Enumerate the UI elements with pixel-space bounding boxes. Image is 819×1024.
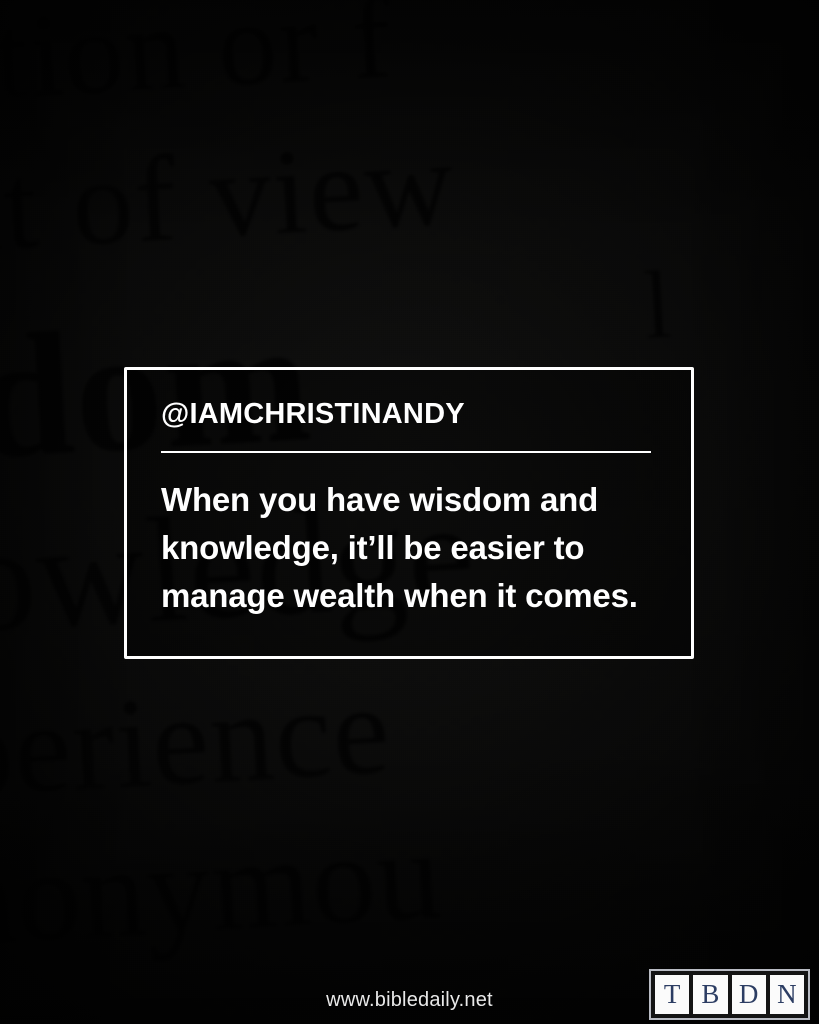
logo-tile-n: N xyxy=(770,975,804,1014)
background-word-revelation: elation or f xyxy=(0,0,396,126)
author-handle: @IAMCHRISTINANDY xyxy=(161,400,657,429)
background-word-fragment: l xyxy=(642,256,674,353)
logo-tile-b: B xyxy=(693,975,727,1014)
quote-graphic: elation or f oint of view isdom nowledge… xyxy=(0,0,819,1024)
card-divider xyxy=(161,451,651,453)
footer: www.bibledaily.net T B D N xyxy=(0,962,819,1024)
background-word-experience: xperience xyxy=(0,665,394,821)
background-word-point-of-view: oint of view xyxy=(0,122,458,278)
background-word-synonymous: ynonymou xyxy=(0,810,445,969)
quote-card: @IAMCHRISTINANDY When you have wisdom an… xyxy=(124,367,694,659)
tbdn-logo[interactable]: T B D N xyxy=(649,969,810,1020)
logo-tile-t: T xyxy=(655,975,689,1014)
logo-tile-d: D xyxy=(732,975,766,1014)
quote-text: When you have wisdom and knowledge, it’l… xyxy=(161,476,661,620)
